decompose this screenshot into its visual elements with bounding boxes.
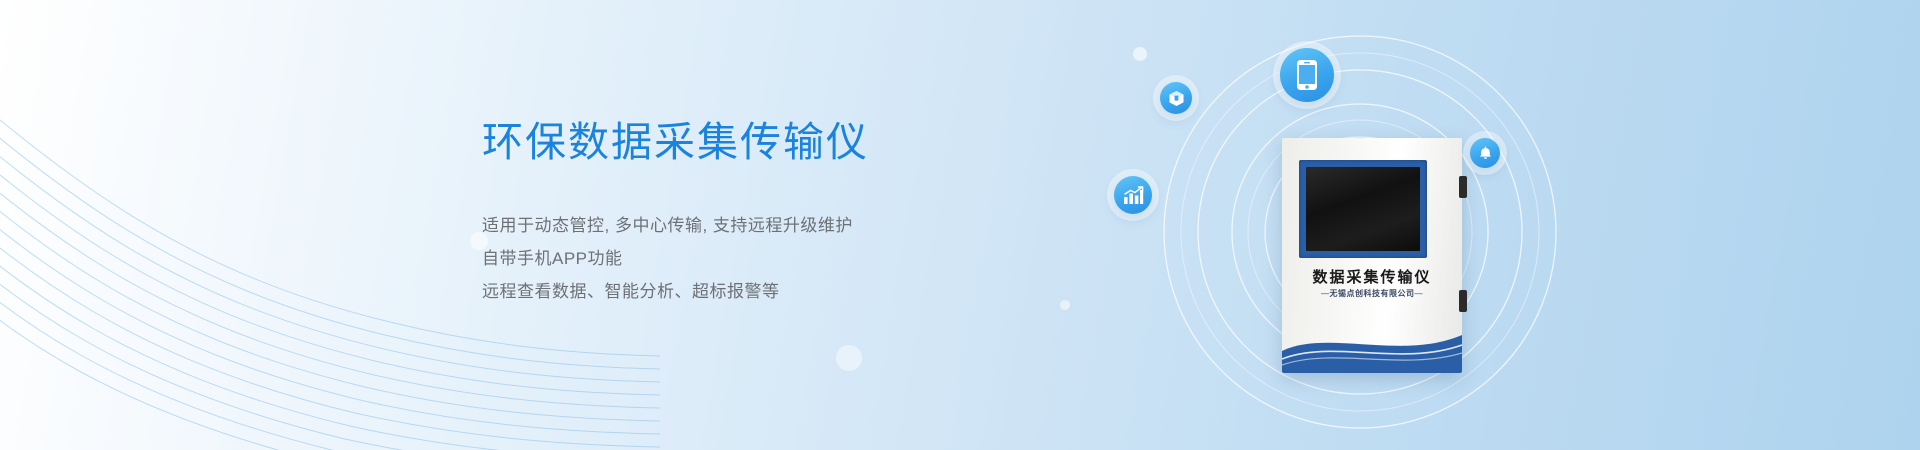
subtitle-line-3: 远程查看数据、智能分析、超标报警等 [482,275,1042,308]
smartphone-icon[interactable] [1280,48,1334,102]
device-latch [1459,176,1467,198]
device-label-company: —无锡点创科技有限公司— [1282,288,1462,299]
page-title: 环保数据采集传输仪 [482,120,1042,165]
banner-copy: 环保数据采集传输仪 适用于动态管控, 多中心传输, 支持远程升级维护 自带手机A… [482,120,1042,308]
device-cabinet: 数据采集传输仪 —无锡点创科技有限公司— [1282,138,1462,373]
bar-chart-icon[interactable] [1114,176,1152,214]
product-visual: 数据采集传输仪 —无锡点创科技有限公司— [1060,0,1620,450]
decorative-bubble [836,345,862,371]
device-screen-bezel [1299,160,1427,258]
device-screen [1306,167,1420,251]
alarm-icon[interactable] [1470,138,1500,168]
product-banner: 环保数据采集传输仪 适用于动态管控, 多中心传输, 支持远程升级维护 自带手机A… [0,0,1920,450]
device-latch [1459,290,1467,312]
device-footer-graphic [1282,321,1462,373]
subtitle-line-2: 自带手机APP功能 [482,242,1042,275]
cube-icon[interactable] [1160,82,1192,114]
data-logger-device: 数据采集传输仪 —无锡点创科技有限公司— [1282,138,1462,373]
device-label-main: 数据采集传输仪 [1282,266,1462,287]
subtitle-line-1: 适用于动态管控, 多中心传输, 支持远程升级维护 [482,209,1042,242]
